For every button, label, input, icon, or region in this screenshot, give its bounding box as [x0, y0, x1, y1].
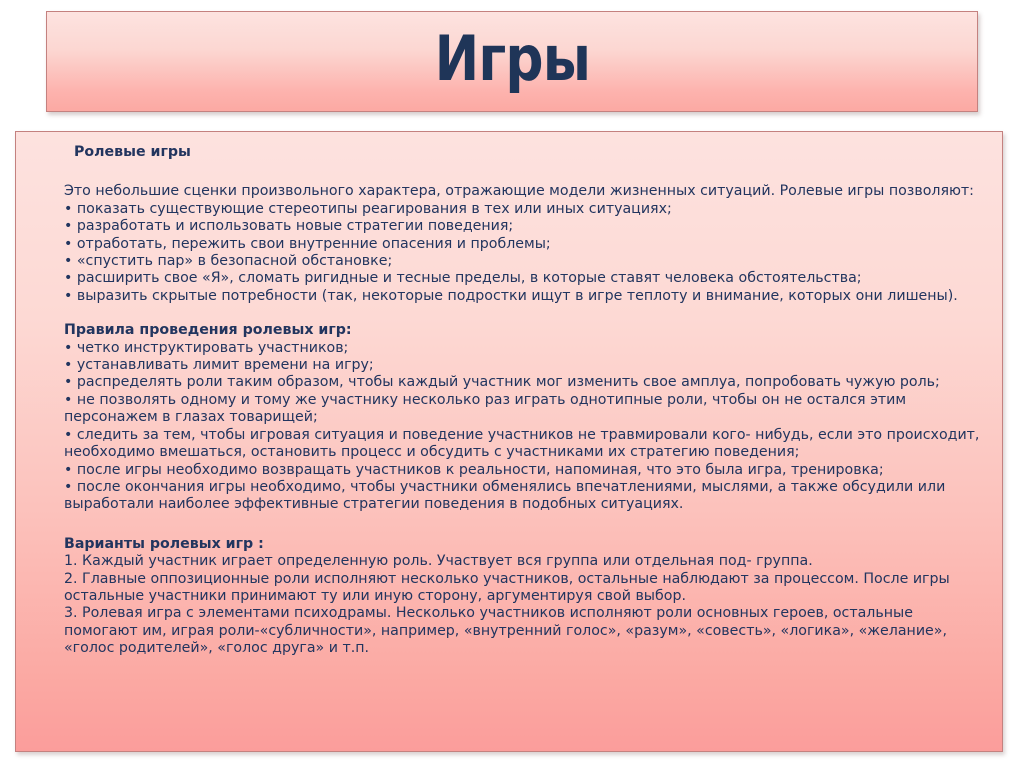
list-item: • «спустить пар» в безопасной обстановке…: [64, 253, 982, 270]
list-item: • не позволять одному и тому же участник…: [64, 392, 982, 427]
list-item: • отработать, пережить свои внутренние о…: [64, 236, 982, 253]
list-item: • после окончания игры необходимо, чтобы…: [64, 479, 982, 514]
spacer: [64, 514, 982, 536]
section1-intro: Это небольшие сценки произвольного харак…: [64, 183, 982, 200]
slide: Игры Ролевые игры Это небольшие сценки п…: [0, 0, 1024, 767]
list-item: • выразить скрытые потребности (так, нек…: [64, 288, 982, 305]
list-item: • следить за тем, чтобы игровая ситуация…: [64, 427, 982, 462]
list-item: • расширить свое «Я», сломать ригидные и…: [64, 270, 982, 287]
list-item: • четко инструктировать участников;: [64, 340, 982, 357]
list-item: • после игры необходимо возвращать участ…: [64, 462, 982, 479]
title-box: Игры: [46, 11, 978, 112]
list-item: 1. Каждый участник играет определенную р…: [64, 553, 982, 570]
section-heading-rules: Правила проведения ролевых игр:: [64, 322, 982, 339]
section-heading-role-games: Ролевые игры: [64, 144, 982, 161]
page-title: Игры: [434, 28, 589, 96]
list-item: • показать существующие стереотипы реаги…: [64, 201, 982, 218]
list-item: • устанавливать лимит времени на игру;: [64, 357, 982, 374]
list-item: 2. Главные оппозиционные роли исполняют …: [64, 571, 982, 606]
spacer: [64, 305, 982, 322]
spacer: [64, 161, 982, 183]
list-item: 3. Ролевая игра с элементами психодрамы.…: [64, 605, 982, 657]
content-body: Ролевые игры Это небольшие сценки произв…: [15, 131, 1003, 752]
list-item: • разработать и использовать новые страт…: [64, 218, 982, 235]
section-heading-variants: Варианты ролевых игр :: [64, 536, 982, 553]
list-item: • распределять роли таким образом, чтобы…: [64, 374, 982, 391]
